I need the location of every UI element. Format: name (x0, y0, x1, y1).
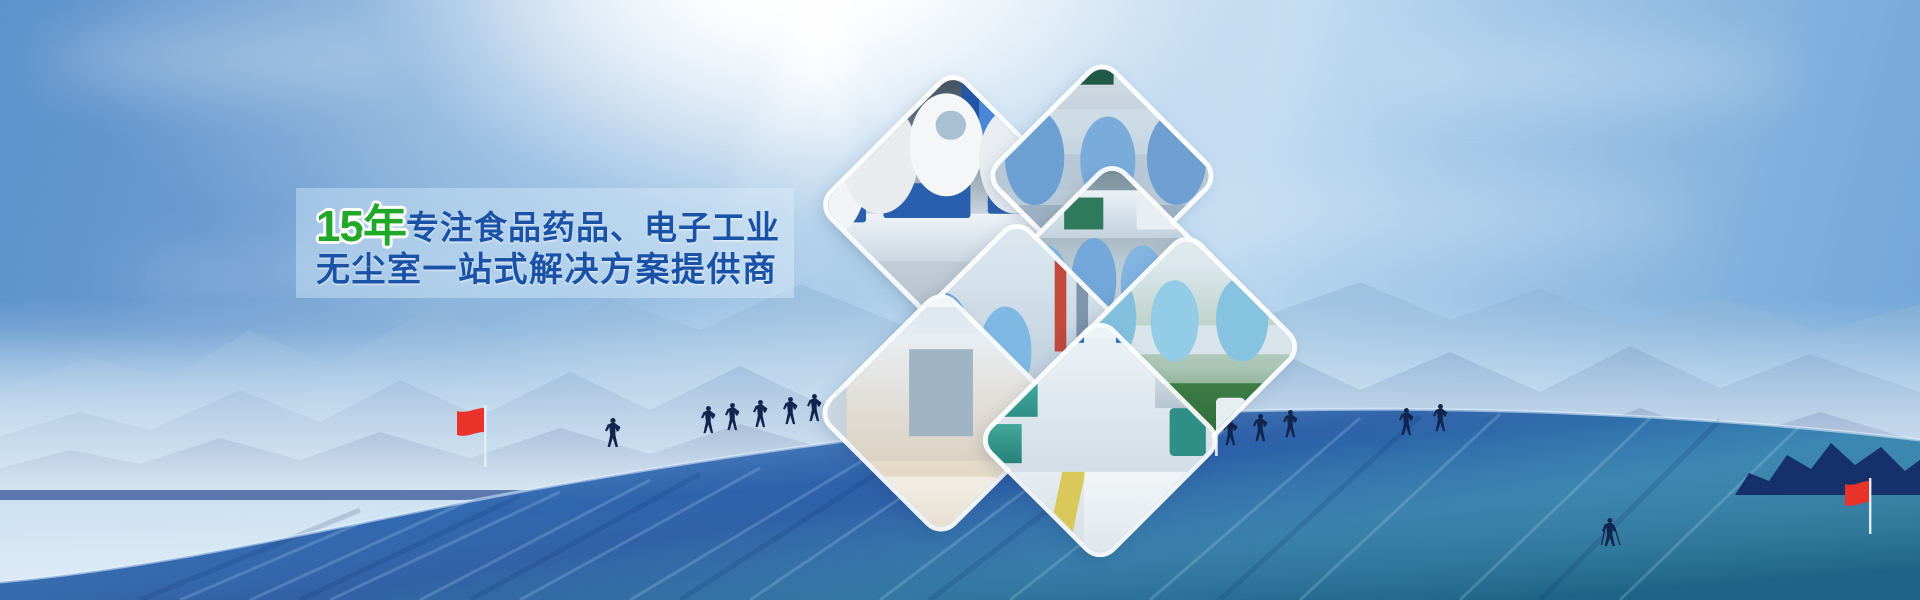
hiker-silhouette-icon (1282, 410, 1299, 438)
rock-outcrop (1735, 425, 1920, 495)
hiker-with-poles-silhouette-icon (1600, 518, 1622, 548)
hiker-silhouette-icon (1398, 408, 1415, 436)
summit-flag-far-right-icon (1843, 478, 1885, 534)
hiker-silhouette-icon (1432, 404, 1449, 432)
hero-banner: 15年专注食品药品、电子工业 无尘室一站式解决方案提供商 (0, 0, 1920, 600)
summit-flag-left-icon (455, 405, 501, 467)
cloud (1380, 40, 1800, 106)
hiker-silhouette-icon (752, 400, 769, 428)
hiker-silhouette-icon (806, 394, 823, 422)
years-unit: 年 (363, 202, 406, 251)
headline-line1-rest: 专注食品药品、电子工业 (406, 209, 780, 246)
hiker-silhouette-icon (700, 406, 717, 434)
diamond-photo-collage (840, 92, 1280, 472)
years-number: 15 (316, 202, 363, 251)
hiker-silhouette-icon (782, 397, 799, 425)
headline-line2: 无尘室一站式解决方案提供商 (316, 251, 778, 289)
hiker-silhouette-icon (724, 403, 741, 431)
cloud (40, 30, 400, 90)
hiker-silhouette-icon (604, 418, 622, 448)
headline-block: 15年专注食品药品、电子工业 无尘室一站式解决方案提供商 (316, 202, 786, 289)
